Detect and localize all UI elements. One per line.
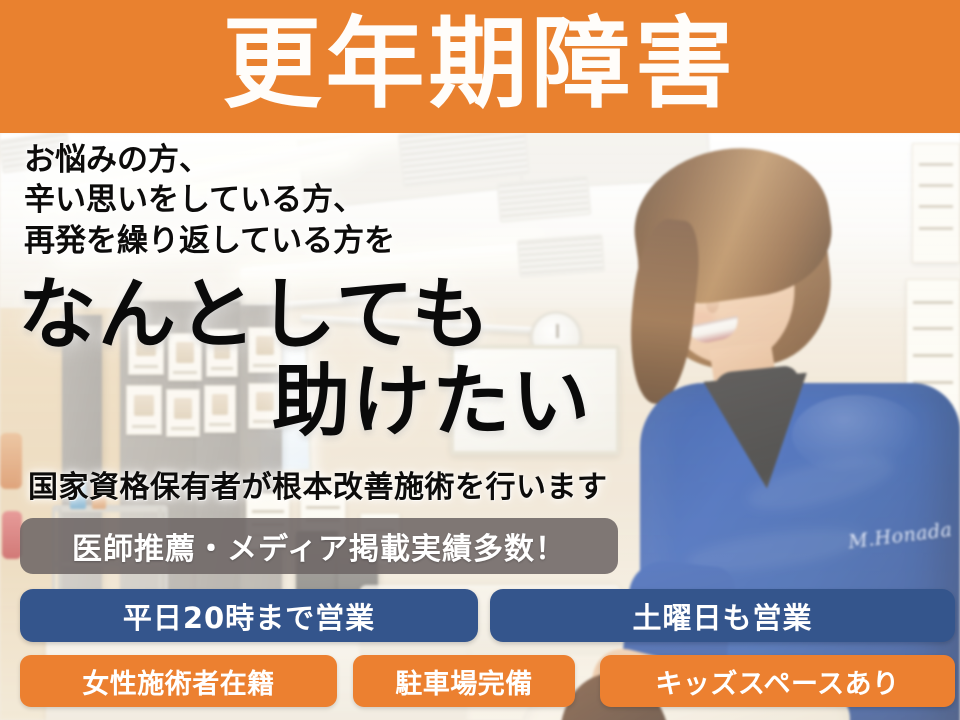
badge-weekday-hours[interactable]: 平日20時まで営業 [20,589,478,642]
sub-headline: 国家資格保有者が根本改善施術を行います [28,462,608,506]
badge-parking-label: 駐車場完備 [395,662,533,701]
badge-kids-space-label: キッズスペースあり [655,662,899,701]
badge-saturday-hours-label: 土曜日も営業 [632,595,812,637]
badge-weekday-hours-label: 平日20時まで営業 [123,595,375,637]
badge-kids-space[interactable]: キッズスペースあり [600,655,955,707]
status-badge-media: 医師推薦・メディア掲載実績多数！ [20,518,618,574]
badge-female-therapist-label: 女性施術者在籍 [82,662,275,701]
lede-text: お悩みの方、 辛い思いをしている方、 再発を繰り返している方を [24,140,395,261]
headline: なんとしても 助けたい [18,272,638,447]
badge-female-therapist[interactable]: 女性施術者在籍 [20,655,337,707]
banner-stage: M.Honada 更年期障害 お悩みの方、 辛い思いをしている方、 再発を繰り返… [0,0,960,720]
headline-line-2: 助けたい [18,359,638,446]
badge-saturday-hours[interactable]: 土曜日も営業 [490,589,955,642]
badge-parking[interactable]: 駐車場完備 [353,655,575,707]
headline-line-1: なんとしても [18,272,638,359]
text-overlay: お悩みの方、 辛い思いをしている方、 再発を繰り返している方を なんとしても 助… [0,0,960,720]
status-badge-media-label: 医師推薦・メディア掲載実績多数！ [72,524,566,568]
